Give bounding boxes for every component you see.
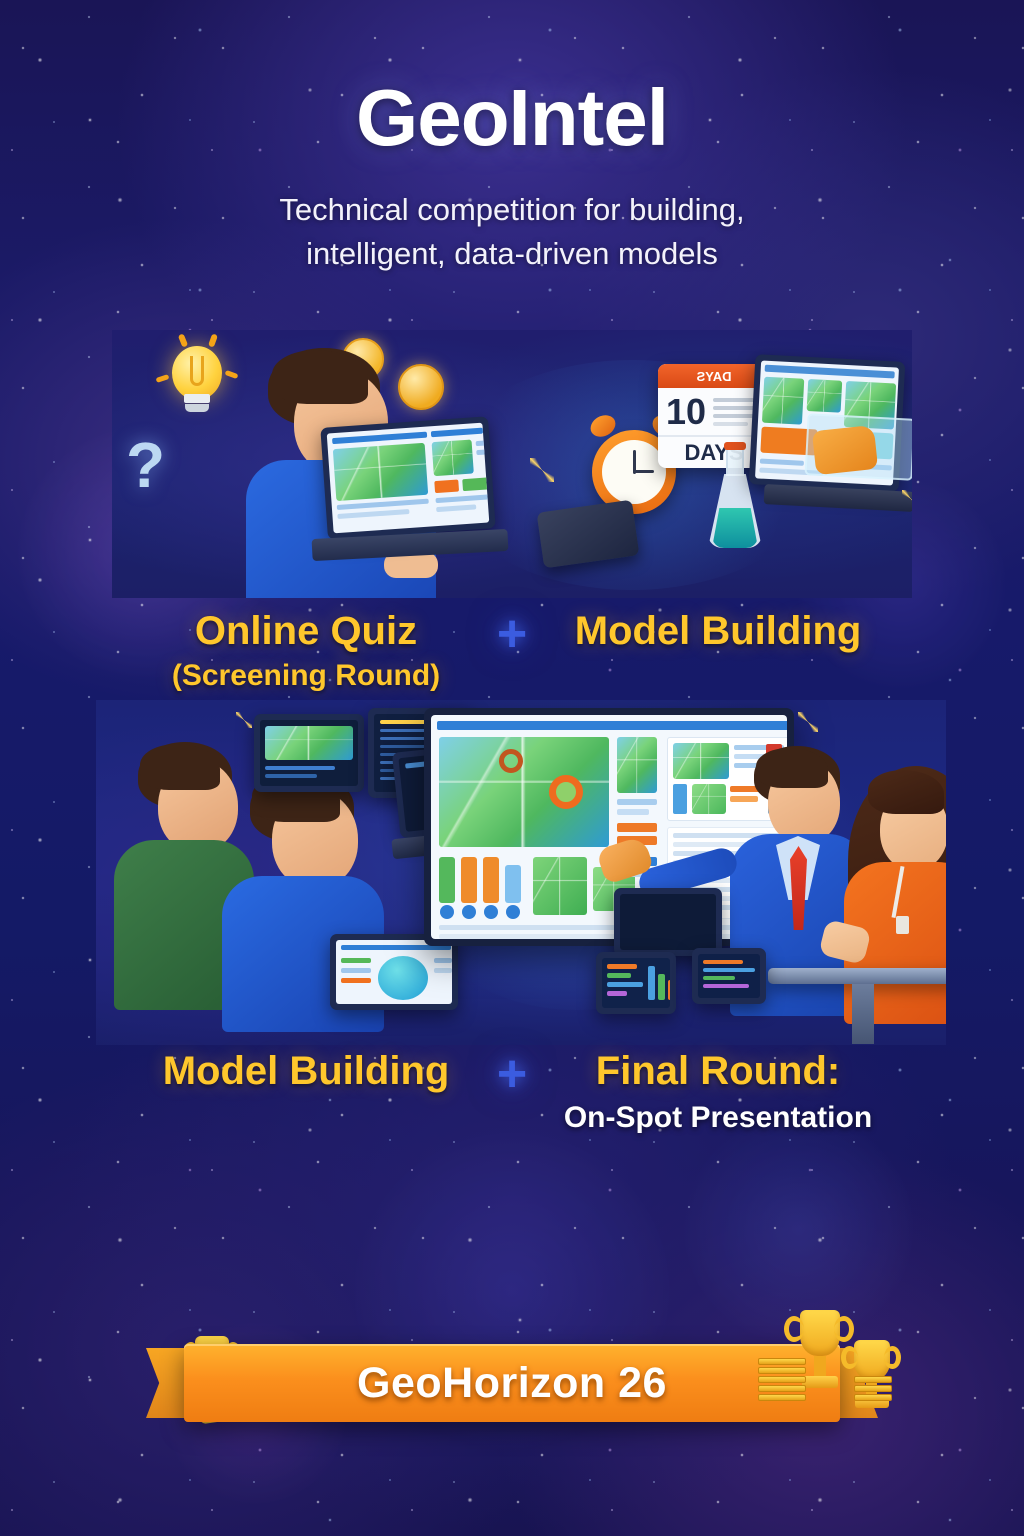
sparkle-icon	[902, 490, 912, 508]
subtitle: Technical competition for building, inte…	[0, 188, 1024, 276]
label-online-quiz: Online Quiz	[136, 610, 476, 652]
trophy-base	[802, 1376, 838, 1388]
coin-stack-icon	[758, 1358, 806, 1404]
label-model-building: Model Building	[548, 610, 888, 652]
hair-front	[756, 748, 828, 788]
row-two-right-label: Final Round: On-Spot Presentation	[548, 1050, 888, 1137]
desk-monitor-screen	[620, 894, 716, 950]
label-model-building: Model Building	[136, 1050, 476, 1092]
hair-front	[140, 744, 220, 790]
podium-leg	[852, 984, 874, 1044]
laptop-gis-dashboard	[320, 416, 495, 539]
bottom-banner: GeoHorizon 26	[0, 1330, 1024, 1436]
quiz-and-model-building-scene: ?	[112, 330, 912, 598]
hair-front	[868, 770, 944, 814]
trophy-handle	[884, 1346, 901, 1369]
desktop-monitor-code	[254, 714, 364, 792]
banner-title: GeoHorizon 26	[357, 1359, 667, 1408]
coin-stack-icon	[854, 1376, 892, 1404]
title-block: GeoIntel Technical competition for build…	[0, 78, 1024, 276]
podium-table	[768, 968, 946, 984]
row-two-labels: Model Building + Final Round: On-Spot Pr…	[0, 1050, 1024, 1137]
plus-icon-row-one: +	[476, 610, 548, 659]
lightbulb-icon	[164, 346, 230, 426]
plus-icon-row-two: +	[476, 1050, 548, 1099]
trophy-handle	[841, 1346, 858, 1369]
row-two-left-label: Model Building	[136, 1050, 476, 1092]
bar-chart-panel	[439, 855, 525, 919]
trophy-handle	[784, 1316, 804, 1342]
desk-monitor	[614, 888, 722, 956]
label-final-round: Final Round:	[548, 1050, 888, 1092]
final-round-presentation-scene	[96, 700, 946, 1045]
sparkle-icon	[798, 712, 818, 732]
laptop-screen	[327, 423, 490, 534]
page-title: GeoIntel	[0, 78, 1024, 158]
analysis-screen	[336, 940, 452, 1004]
illustration-panel-round-two	[96, 700, 946, 1045]
hand-icon	[812, 425, 878, 475]
row-one-labels: Online Quiz (Screening Round) + Model Bu…	[0, 610, 1024, 695]
gis-map-dashboard	[439, 737, 609, 847]
subtitle-line-2: intelligent, data-driven models	[0, 232, 1024, 276]
question-mark-icon: ?	[126, 428, 165, 502]
illustration-panel-round-one: ?	[112, 330, 912, 598]
label-on-spot-presentation: On-Spot Presentation	[548, 1098, 888, 1137]
small-dashboard-screen	[596, 952, 676, 1014]
row-one-left-label: Online Quiz (Screening Round)	[136, 610, 476, 695]
calendar-number: 10	[666, 394, 706, 430]
small-dashboard-inner	[602, 958, 670, 1008]
subtitle-line-1: Technical competition for building,	[0, 188, 1024, 232]
poster-canvas: GeoIntel Technical competition for build…	[0, 0, 1024, 1536]
sparkle-icon	[236, 712, 252, 728]
badge	[896, 916, 909, 934]
trophy-stem	[814, 1356, 826, 1376]
sparkle-icon	[530, 458, 554, 482]
tablet-screen	[692, 948, 766, 1004]
row-one-right-label: Model Building	[548, 610, 888, 652]
monitor-screen	[260, 720, 358, 786]
presenter-orange-blazer	[834, 766, 946, 1024]
label-screening-round: (Screening Round)	[136, 656, 476, 695]
tablet-inner	[698, 954, 760, 998]
ribbon-body: GeoHorizon 26	[184, 1344, 840, 1422]
